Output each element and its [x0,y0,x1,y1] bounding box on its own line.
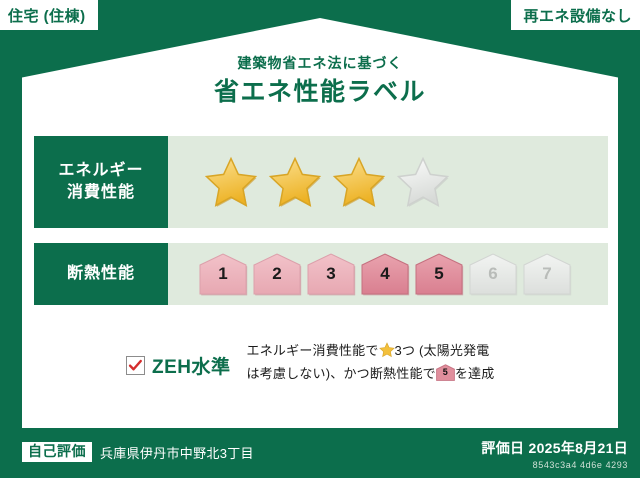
label-hash-code: 8543c3a4 4d6e 4293 [481,460,628,470]
energy-performance-label: 住宅 (住棟) 再エネ設備なし 建築物省エネ法に基づく 省エネ性能ラベル エネル… [0,0,640,478]
self-evaluation-badge: 自己評価 [22,442,92,462]
zeh-desc-line1: エネルギー消費性能で 3つ (太陽光発電 [247,343,490,358]
tag-building-type: 住宅 (住棟) [0,0,98,30]
star-icon-filled [204,156,258,208]
insulation-grade-badge: 3 [306,252,356,296]
energy-performance-label-box: エネルギー消費性能 [34,136,168,228]
evaluation-date: 評価日 2025年8月21日 [481,438,628,458]
insulation-grade-value: 2 [252,265,302,282]
page-subtitle: 建築物省エネ法に基づく [0,55,640,72]
insulation-performance-row: 断熱性能 1234567 [34,243,608,305]
insulation-label-text: 断熱性能 [67,263,135,285]
tag-renewable-energy: 再エネ設備なし [511,0,640,30]
insulation-grade-badge: 5 [414,252,464,296]
insulation-grade-badge: 1 [198,252,248,296]
insulation-performance-label-box: 断熱性能 [34,243,168,305]
zeh-description: エネルギー消費性能で 3つ (太陽光発電 は考慮しない)、かつ断熱性能で 5 を… [247,340,546,386]
page-title-main: 省エネ性能ラベル [0,78,640,107]
zeh-check-group: ZEH水準 [126,340,231,379]
insulation-grade-badge: 6 [468,252,518,296]
footer-left-group: 自己評価 兵庫県伊丹市中野北3丁目 [22,442,254,462]
property-address: 兵庫県伊丹市中野北3丁目 [100,443,254,462]
star-icon [379,342,395,358]
zeh-title: ZEH水準 [152,352,231,379]
star-icon-filled [332,156,386,208]
insulation-grade-value: 3 [306,265,356,282]
star-icon-empty [396,156,450,208]
insulation-grade-badge: 2 [252,252,302,296]
energy-label-text: エネルギー消費性能 [58,160,143,203]
insulation-grade-value: 1 [198,265,248,282]
zeh-standard-block: ZEH水準 エネルギー消費性能で 3つ (太陽光発電 は考慮しない)、かつ断熱性… [126,340,546,386]
zeh-checkbox [126,356,145,375]
insulation-grade-badge: 4 [360,252,410,296]
energy-performance-row: エネルギー消費性能 [34,136,608,228]
insulation-grade-value: 4 [360,265,410,282]
insulation-grade-scale: 1234567 [168,243,608,305]
insulation-grade-value: 5 [414,265,464,282]
insulation-grade-value: 6 [468,265,518,282]
page-title: 建築物省エネ法に基づく 省エネ性能ラベル [0,55,640,107]
check-icon [128,358,143,373]
insulation-grade-value: 7 [522,265,572,282]
footer-right-group: 評価日 2025年8月21日 8543c3a4 4d6e 4293 [481,438,628,470]
inline-grade-badge: 5 [436,364,455,381]
zeh-desc-line2: は考慮しない)、かつ断熱性能で 5 を達成 [247,366,495,381]
star-icon-filled [268,156,322,208]
insulation-grade-badge: 7 [522,252,572,296]
star-rating [168,136,608,228]
label-footer: 自己評価 兵庫県伊丹市中野北3丁目 評価日 2025年8月21日 8543c3a… [0,432,640,478]
